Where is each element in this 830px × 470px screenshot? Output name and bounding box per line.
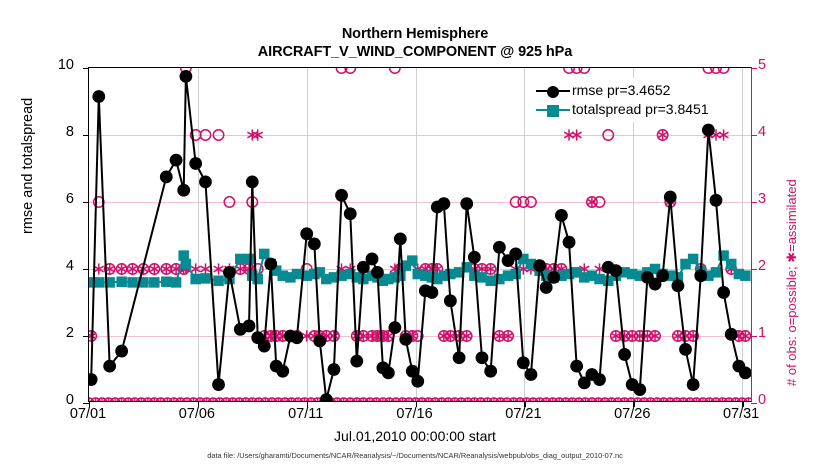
totalspread-marker (149, 277, 160, 288)
totalspread-marker (292, 269, 303, 280)
totalspread-marker (252, 274, 263, 285)
y-axis-left-tick (83, 135, 89, 136)
rmse-marker (276, 365, 289, 378)
y-axis-left-tick (83, 269, 89, 270)
rmse-marker (618, 348, 631, 361)
legend-item: totalspread pr=3.8451 (536, 100, 709, 119)
rmse-marker (570, 360, 583, 373)
rmse-marker (468, 251, 481, 264)
x-axis-tick-label: 07/26 (592, 406, 672, 422)
obs-assimilated-marker (201, 263, 211, 274)
rmse-marker (371, 266, 384, 279)
y-axis-right-tick (751, 336, 757, 337)
y-axis-left-tick (83, 202, 89, 203)
x-axis-tick-label: 07/01 (48, 406, 128, 422)
chart-page: Northern Hemisphere AIRCRAFT_V_WIND_COMP… (0, 0, 830, 470)
rmse-marker (555, 209, 568, 222)
totalspread-marker (181, 259, 192, 270)
y-axis-right-tick-label: 4 (758, 124, 766, 140)
legend-item: rmse pr=3.4652 (536, 81, 709, 100)
rmse-marker (243, 320, 256, 333)
rmse-marker (633, 383, 646, 396)
y-axis-left-tick-label: 2 (66, 325, 74, 341)
y-axis-right-tick (751, 135, 757, 136)
rmse-marker (725, 328, 738, 341)
y-axis-right-tick (751, 68, 757, 69)
totalspread-marker (161, 276, 172, 287)
legend-circle-icon (536, 83, 570, 99)
rmse-marker (313, 335, 326, 348)
x-axis-tick-label: 07/21 (483, 406, 563, 422)
rmse-marker (212, 378, 225, 391)
totalspread-marker (213, 275, 224, 286)
obs-assimilated-marker (719, 129, 729, 140)
totalspread-marker (407, 255, 418, 266)
rmse-marker (328, 363, 341, 376)
rmse-marker (399, 333, 412, 346)
chart-title-line2: AIRCRAFT_V_WIND_COMPONENT @ 925 hPa (0, 44, 830, 60)
y-axis-left-tick-label: 8 (66, 124, 74, 140)
data-file-caption: data file: /Users/gharamti/Documents/NCA… (0, 451, 830, 460)
rmse-marker (170, 154, 183, 167)
y-axis-right-title: # of obs: o=possible; ✱=assimilated (784, 179, 800, 386)
rmse-marker (264, 258, 277, 271)
y-axis-right-tick-label: 2 (758, 258, 766, 274)
rmse-marker (366, 253, 379, 266)
rmse-marker (533, 259, 546, 272)
rmse-marker (687, 378, 700, 391)
y-axis-right-tick-label: 5 (758, 57, 766, 73)
rmse-marker (525, 368, 538, 381)
obs-possible-marker (603, 130, 613, 140)
obs-possible-marker (594, 197, 604, 207)
totalspread-marker (116, 276, 127, 287)
rmse-marker (350, 355, 363, 368)
x-axis-tick-label: 07/06 (157, 406, 237, 422)
rmse-marker (291, 331, 304, 344)
rmse-marker (382, 366, 395, 379)
rmse-marker (609, 264, 622, 277)
rmse-marker (388, 321, 401, 334)
rmse-marker (335, 189, 348, 202)
y-axis-right-tick (751, 403, 757, 404)
rmse-marker (92, 90, 105, 103)
rmse-marker (664, 191, 677, 204)
totalspread-marker (688, 254, 699, 265)
y-axis-left-tick-label: 6 (66, 191, 74, 207)
rmse-marker (517, 356, 530, 369)
obs-baseline-cluster (89, 398, 751, 401)
totalspread-marker (94, 277, 105, 288)
rmse-marker (103, 360, 116, 373)
rmse-line (91, 76, 745, 399)
obs-assimilated-marker (94, 263, 104, 274)
obs-assimilated-marker (214, 263, 224, 274)
obs-assimilated-marker (572, 129, 582, 140)
totalspread-marker (395, 270, 406, 281)
rmse-marker (453, 351, 466, 364)
y-axis-right-tick (751, 269, 757, 270)
obs-assimilated-marker (247, 129, 257, 140)
chart-title-line1: Northern Hemisphere (0, 26, 830, 42)
totalspread-marker (740, 270, 751, 281)
rmse-marker (547, 271, 560, 284)
rmse-marker (679, 343, 692, 356)
rmse-marker (425, 286, 438, 299)
totalspread-marker (726, 259, 737, 270)
totalspread-marker (200, 273, 211, 284)
legend-item-label: rmse pr=3.4652 (572, 81, 670, 100)
rmse-marker (509, 248, 522, 261)
rmse-marker (223, 266, 236, 279)
rmse-marker (563, 236, 576, 249)
obs-assimilated-marker (253, 129, 263, 140)
y-axis-left-tick (83, 336, 89, 337)
rmse-marker (593, 373, 606, 386)
chart-legend: rmse pr=3.4652totalspread pr=3.8451 (532, 78, 715, 122)
totalspread-marker (244, 254, 255, 265)
y-axis-left-tick (83, 68, 89, 69)
rmse-marker (437, 197, 450, 210)
rmse-marker (656, 269, 669, 282)
y-axis-left-title: rmse and totalspread (20, 98, 36, 234)
obs-possible-marker (526, 197, 536, 207)
totalspread-marker (711, 267, 722, 278)
rmse-marker (189, 157, 202, 170)
rmse-marker (717, 286, 730, 299)
y-axis-left-tick-label: 4 (66, 258, 74, 274)
totalspread-marker (190, 274, 201, 285)
rmse-marker (394, 232, 407, 245)
obs-possible-marker (224, 197, 234, 207)
rmse-marker (160, 170, 173, 183)
totalspread-marker (127, 277, 138, 288)
x-axis-tick-label: 07/16 (375, 406, 455, 422)
obs-possible-marker (200, 130, 210, 140)
y-axis-right-tick (751, 202, 757, 203)
x-axis-tick-label: 07/11 (266, 406, 346, 422)
rmse-marker (411, 375, 424, 388)
y-axis-right-tick-label: 1 (758, 325, 766, 341)
rmse-marker (484, 365, 497, 378)
rmse-marker (694, 269, 707, 282)
totalspread-marker (171, 277, 182, 288)
rmse-marker (460, 197, 473, 210)
obs-assimilated-marker (564, 129, 574, 140)
totalspread-marker (259, 249, 270, 259)
x-axis-tick-label: 07/31 (701, 406, 781, 422)
rmse-marker (246, 176, 259, 189)
rmse-marker (344, 207, 357, 220)
rmse-marker (258, 340, 271, 353)
totalspread-marker (510, 269, 521, 280)
y-axis-right-tick-label: 3 (758, 191, 766, 207)
rmse-marker (671, 279, 684, 292)
rmse-marker (199, 176, 212, 189)
y-axis-left-tick-label: 10 (58, 57, 74, 73)
rmse-marker (177, 184, 190, 197)
rmse-marker (89, 373, 98, 386)
obs-possible-marker (579, 68, 589, 73)
rmse-marker (179, 70, 192, 83)
obs-possible-marker (718, 68, 728, 73)
obs-possible-marker (390, 68, 400, 73)
legend-square-icon (536, 102, 570, 118)
rmse-marker (476, 351, 489, 364)
obs-possible-marker (213, 130, 223, 140)
rmse-marker (493, 241, 506, 254)
rmse-marker (444, 294, 457, 307)
rmse-marker (308, 237, 321, 250)
rmse-marker (320, 393, 333, 401)
x-axis-title: Jul.01,2010 00:00:00 start (0, 428, 830, 444)
rmse-marker (710, 194, 723, 207)
legend-item-label: totalspread pr=3.8451 (572, 100, 709, 119)
rmse-marker (115, 345, 128, 358)
rmse-marker (702, 124, 715, 137)
